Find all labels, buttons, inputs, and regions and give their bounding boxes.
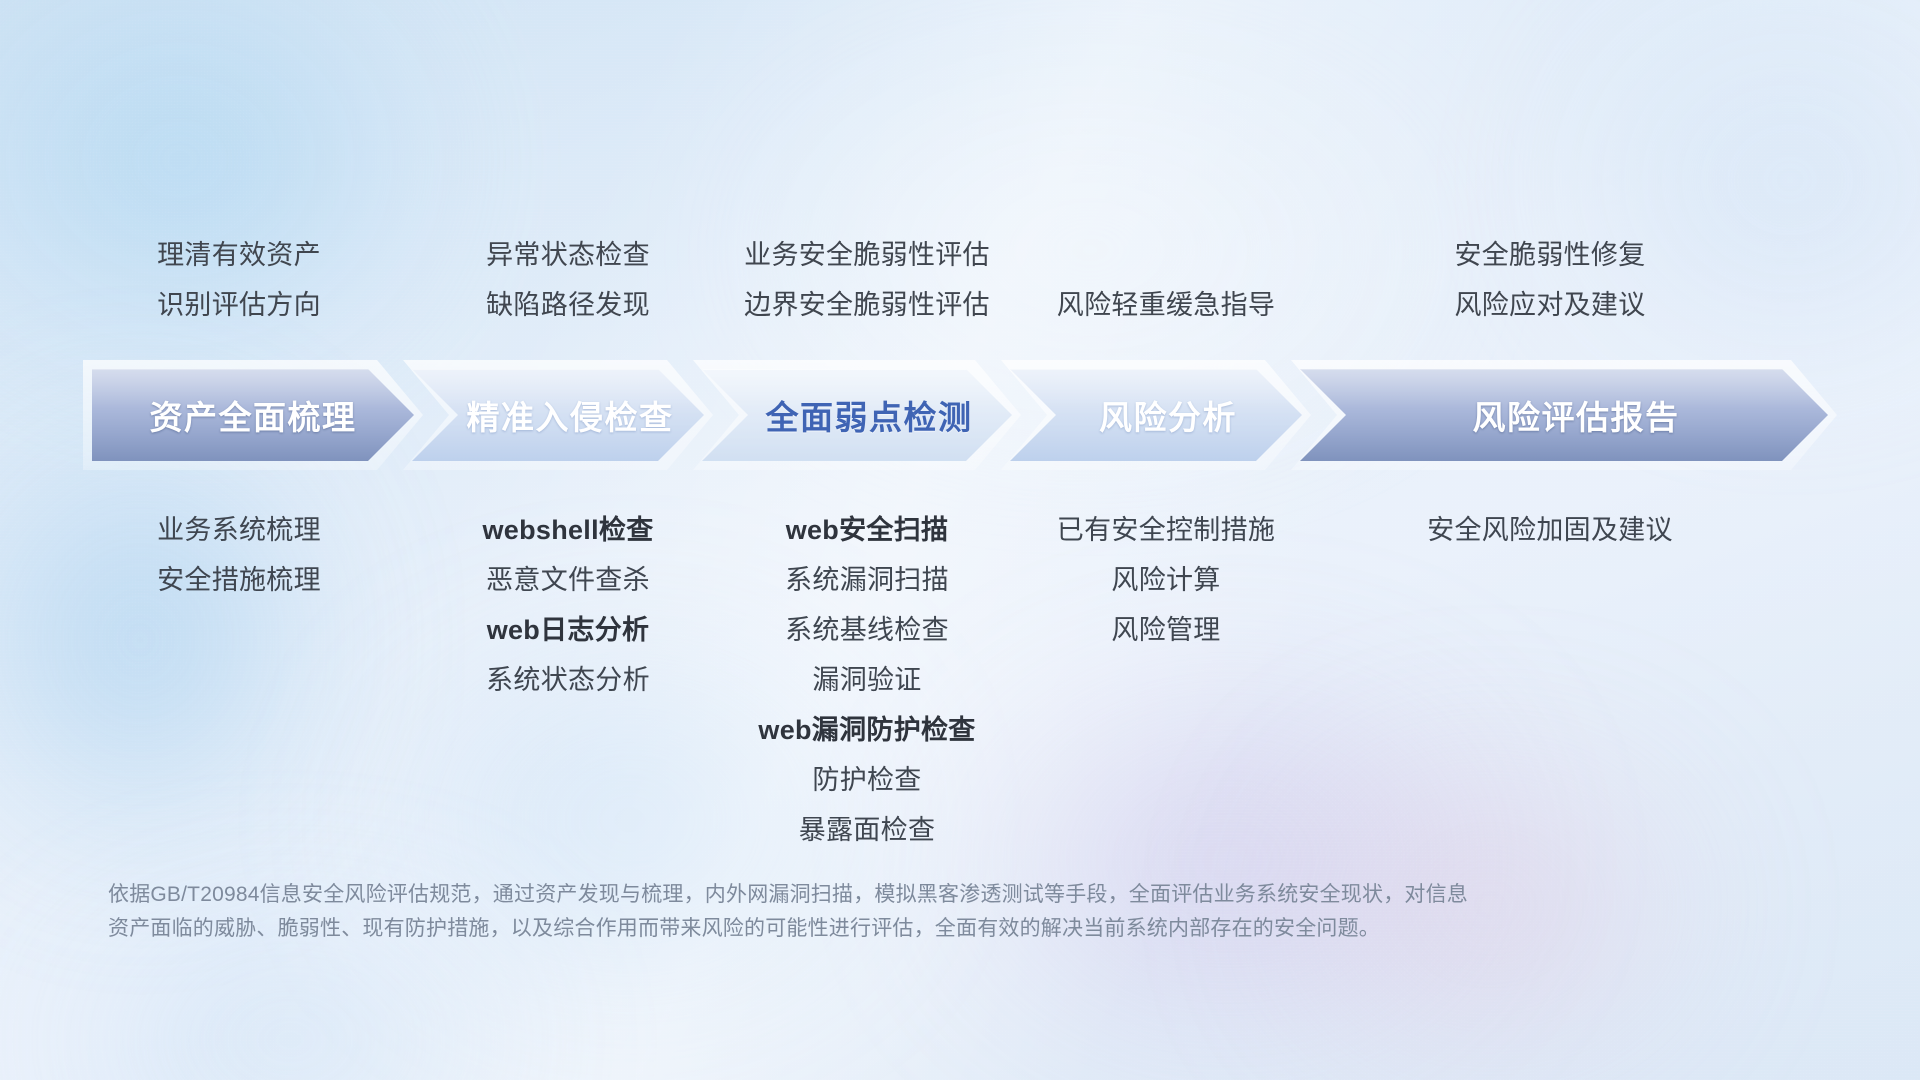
stage-bottom-item: 暴露面检查 [627,805,1107,855]
process-stage-title: 精准入侵检查 [467,391,674,439]
process-diagram: 理清有效资产识别评估方向 异常状态检查缺陷路径发现 业务安全脆弱性评估边界安全脆… [0,0,1920,1080]
stage-bottom-items-risk-report: 安全风险加固及建议 [1310,505,1790,555]
stage-bottom-item: 安全风险加固及建议 [1310,505,1790,555]
stage-bottom-item: 风险计算 [926,555,1406,605]
process-stage-intrusion-check[interactable]: 精准入侵检查 [412,369,704,461]
stage-bottom-item: web漏洞防护检查 [627,705,1107,755]
process-stage-weakness-detection[interactable]: 全面弱点检测 [702,369,1012,461]
stage-top-item: 安全脆弱性修复 [1310,230,1790,280]
stage-top-item: 业务安全脆弱性评估 [627,230,1107,280]
process-stage-asset-inventory[interactable]: 资产全面梳理 [92,369,414,461]
stage-bottom-item: 防护检查 [627,755,1107,805]
process-stage-risk-analysis[interactable]: 风险分析 [1010,369,1302,461]
process-stage-title: 资产全面梳理 [150,391,357,439]
footer-line-2: 资产面临的威胁、脆弱性、现有防护措施，以及综合作用而带来风险的可能性进行评估，全… [108,912,1668,946]
process-stage-title: 风险评估报告 [1473,391,1680,439]
process-stage-title: 风险分析 [1099,391,1237,439]
process-stage-title: 全面弱点检测 [766,391,973,439]
stage-top-item: 风险应对及建议 [1310,280,1790,330]
stage-bottom-item: 漏洞验证 [627,655,1107,705]
process-stage-risk-report[interactable]: 风险评估报告 [1300,369,1828,461]
stage-bottom-item: 风险管理 [926,605,1406,655]
stage-top-labels-risk-report: 安全脆弱性修复风险应对及建议 [1310,230,1790,330]
footer-line-1: 依据GB/T20984信息安全风险评估规范，通过资产发现与梳理，内外网漏洞扫描，… [108,878,1668,912]
footer-description: 依据GB/T20984信息安全风险评估规范，通过资产发现与梳理，内外网漏洞扫描，… [108,878,1668,946]
process-chevron-banner: 资产全面梳理精准入侵检查全面弱点检测风险分析风险评估报告 [0,369,1920,461]
